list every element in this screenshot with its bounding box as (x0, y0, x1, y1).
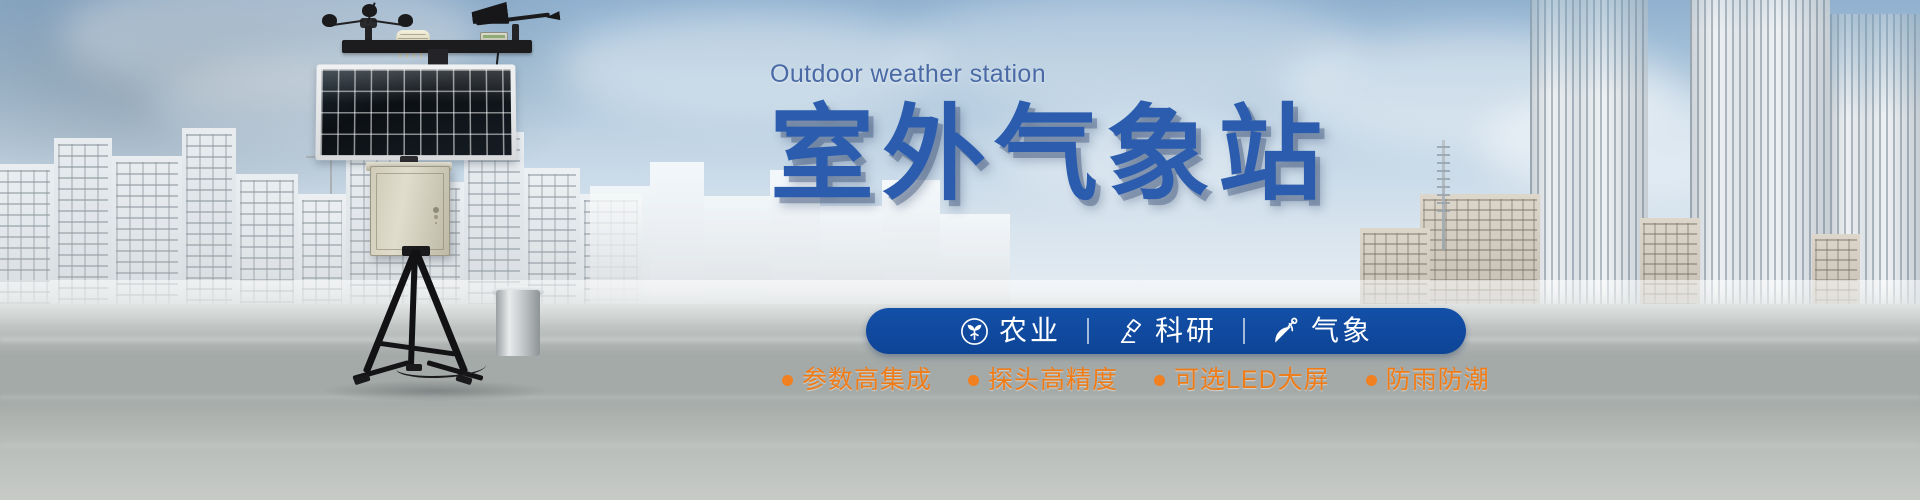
tag-label: 农业 (999, 317, 1061, 345)
page-title: 室外气象站 (770, 101, 1530, 209)
promo-banner: Outdoor weather station 室外气象站 农业 (0, 0, 1920, 500)
rain-gauge (496, 290, 540, 356)
tag-agriculture[interactable]: 农业 (953, 316, 1067, 347)
list-item: 可选LED大屏 (1154, 368, 1330, 393)
solar-cells (320, 69, 511, 155)
feature-label: 探头高精度 (988, 368, 1118, 393)
list-item: 探头高精度 (968, 368, 1118, 393)
tag-research[interactable]: 科研 (1109, 316, 1223, 347)
tag-label: 科研 (1155, 317, 1217, 345)
headline-block: Outdoor weather station 室外气象站 (770, 62, 1530, 209)
tripod-leg (412, 249, 468, 374)
tag-divider (1243, 318, 1245, 344)
feature-label: 防雨防潮 (1386, 368, 1490, 393)
solar-panel (315, 64, 516, 160)
application-tag-bar: 农业 科研 (866, 308, 1466, 354)
tag-meteorology[interactable]: 气象 (1265, 316, 1379, 347)
microscope-icon (1115, 316, 1146, 347)
cabinet-lock (433, 207, 439, 213)
list-item: 参数高集成 (782, 368, 932, 393)
satellite-dish-icon (1271, 316, 1302, 347)
bullet-dot-icon (968, 375, 979, 386)
anemometer-cup (398, 14, 413, 27)
sprout-icon (959, 316, 990, 347)
anemometer-cup (322, 14, 337, 27)
tag-divider (1087, 318, 1089, 344)
anemometer-cup (362, 4, 377, 17)
bullet-dot-icon (1366, 375, 1377, 386)
weather-station-product-photo (300, 4, 570, 500)
feature-label: 可选LED大屏 (1174, 368, 1330, 393)
tripod-brace (376, 340, 456, 356)
tag-label: 气象 (1311, 317, 1373, 345)
control-cabinet (370, 166, 450, 256)
list-item: 防雨防潮 (1366, 368, 1490, 393)
feature-list: 参数高集成 探头高精度 可选LED大屏 防雨防潮 (782, 368, 1482, 393)
feature-label: 参数高集成 (802, 368, 932, 393)
bullet-dot-icon (782, 375, 793, 386)
english-subtitle: Outdoor weather station (770, 62, 1530, 87)
bullet-dot-icon (1154, 375, 1165, 386)
